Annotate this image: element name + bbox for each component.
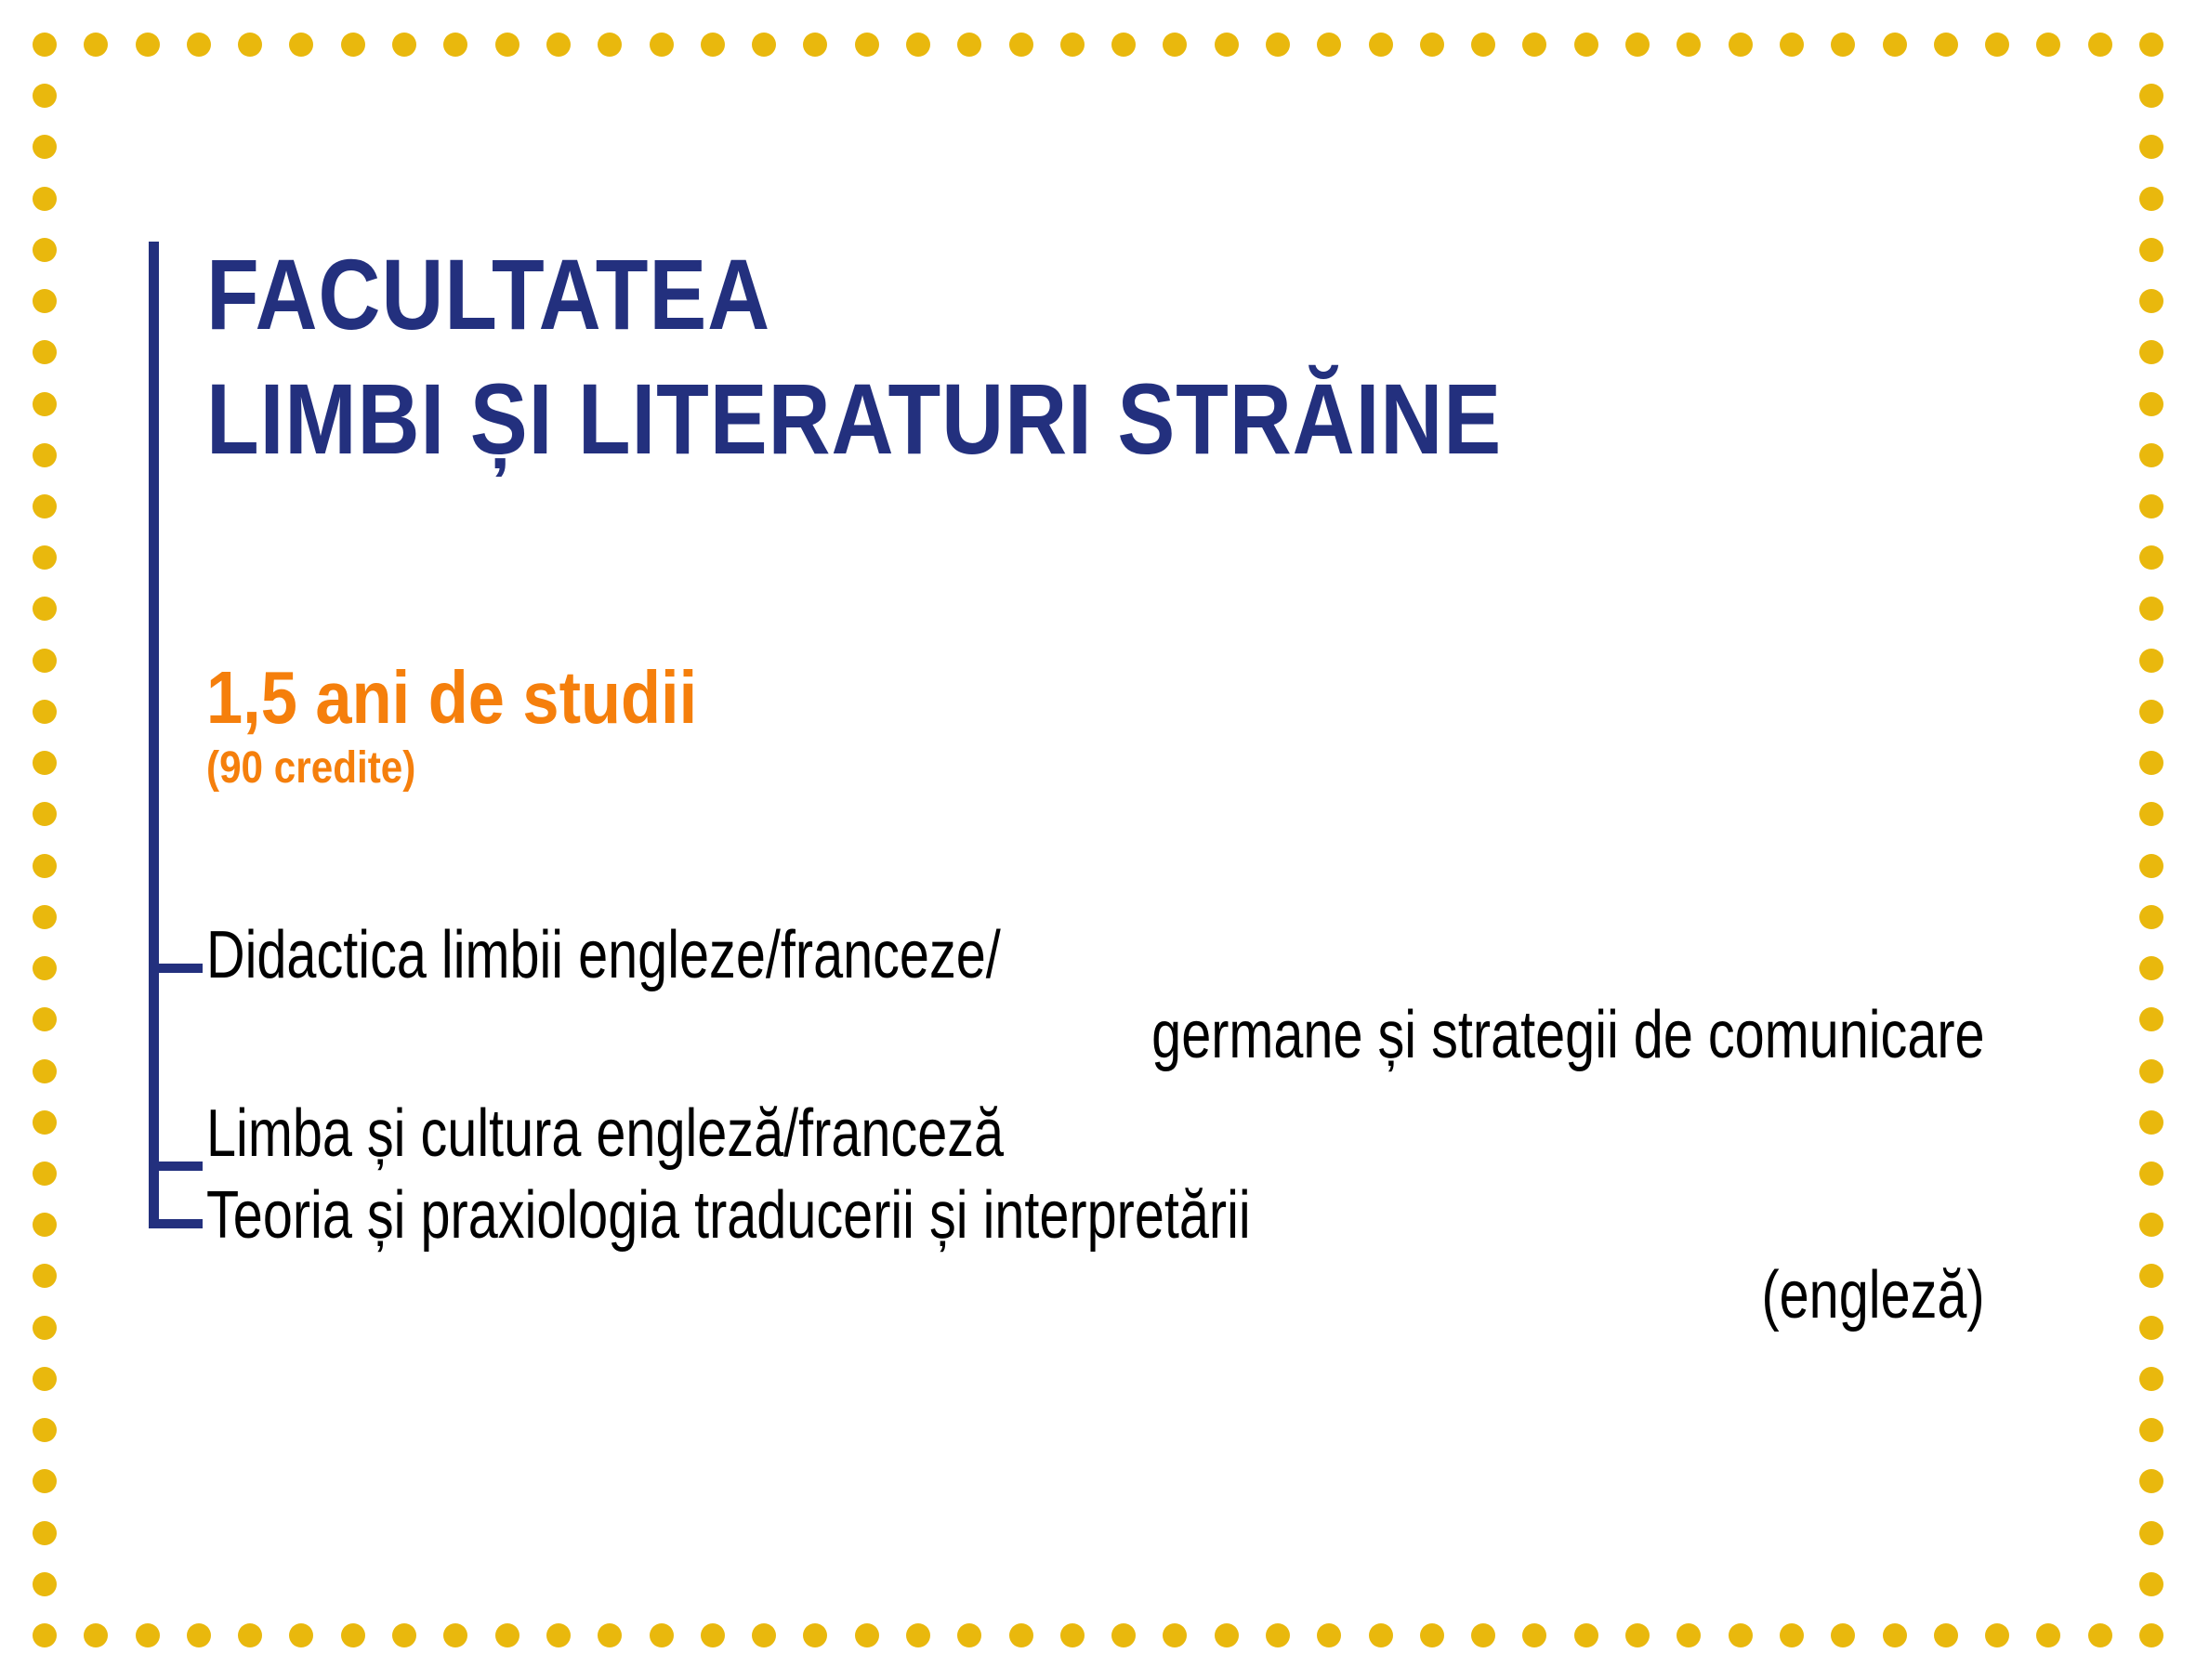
border-dot xyxy=(1780,1623,1804,1647)
faculty-label: FACULTATEA xyxy=(206,240,1805,349)
border-dot xyxy=(289,1623,313,1647)
border-dot xyxy=(957,1623,981,1647)
border-dot xyxy=(2139,1007,2163,1031)
border-dot xyxy=(803,33,827,57)
border-dot xyxy=(2139,1367,2163,1391)
border-dot xyxy=(33,905,57,929)
border-dot xyxy=(2139,289,2163,313)
border-dot xyxy=(1985,33,2009,57)
border-dot xyxy=(2139,392,2163,416)
border-dot xyxy=(2139,649,2163,673)
border-dot xyxy=(33,1264,57,1288)
border-dot xyxy=(33,956,57,980)
border-dot xyxy=(289,33,313,57)
border-dot xyxy=(33,1367,57,1391)
border-dot xyxy=(2139,956,2163,980)
border-dot xyxy=(33,1521,57,1545)
border-dot xyxy=(443,1623,467,1647)
border-dot xyxy=(2139,802,2163,826)
border-dot xyxy=(33,443,57,467)
border-dot xyxy=(33,649,57,673)
border-dot xyxy=(2139,1521,2163,1545)
border-dot xyxy=(906,1623,930,1647)
border-dot xyxy=(33,135,57,159)
border-dot xyxy=(1574,1623,1598,1647)
programs-list: Didactica limbii engleze/franceze/ germa… xyxy=(206,915,2065,1335)
border-dot xyxy=(2139,905,2163,929)
border-dot xyxy=(598,1623,622,1647)
border-dot xyxy=(341,33,365,57)
border-dot xyxy=(1420,1623,1444,1647)
program-3-line-2: (engleză) xyxy=(206,1255,2065,1335)
border-dot xyxy=(546,33,571,57)
border-dot xyxy=(1060,33,1085,57)
border-dot xyxy=(650,33,674,57)
border-dot xyxy=(2139,238,2163,262)
border-dot xyxy=(1111,33,1136,57)
border-dot xyxy=(33,1213,57,1237)
border-dot xyxy=(1831,1623,1855,1647)
border-dot xyxy=(33,392,57,416)
border-dot xyxy=(84,33,108,57)
border-dot xyxy=(33,1623,57,1647)
border-dot xyxy=(187,1623,211,1647)
study-credits: (90 credite) xyxy=(206,743,1842,794)
border-dot xyxy=(1163,33,1187,57)
border-dot xyxy=(2139,135,2163,159)
border-dot xyxy=(1625,33,1650,57)
border-dot xyxy=(136,1623,160,1647)
border-dot xyxy=(33,751,57,775)
border-dot xyxy=(546,1623,571,1647)
border-dot xyxy=(650,1623,674,1647)
border-dot xyxy=(33,340,57,364)
border-dot xyxy=(2139,1213,2163,1237)
border-dot xyxy=(33,84,57,108)
border-dot xyxy=(2139,1264,2163,1288)
tree-branch-program-3 xyxy=(149,1219,203,1228)
border-dot xyxy=(341,1623,365,1647)
border-dot xyxy=(2139,1059,2163,1083)
border-dot xyxy=(1471,1623,1495,1647)
tree-branch-program-1 xyxy=(149,964,203,973)
border-dot xyxy=(238,33,262,57)
border-dot xyxy=(1522,33,1546,57)
border-dot xyxy=(1625,1623,1650,1647)
border-dot xyxy=(855,33,879,57)
border-dot xyxy=(33,545,57,570)
border-dot xyxy=(495,33,519,57)
border-dot xyxy=(803,1623,827,1647)
border-dot xyxy=(1266,33,1290,57)
border-dot xyxy=(2139,545,2163,570)
border-dot xyxy=(1317,33,1341,57)
border-dot xyxy=(1883,1623,1907,1647)
list-item: Teoria și praxiologia traducerii și inte… xyxy=(206,1175,2065,1335)
border-dot xyxy=(2139,1469,2163,1493)
border-dot xyxy=(392,33,416,57)
border-dot xyxy=(2139,33,2163,57)
headings-block: FACULTATEA LIMBI ȘI LITERATURI STRĂINE 1… xyxy=(206,232,2065,794)
border-dot xyxy=(33,1316,57,1340)
border-dot xyxy=(2036,33,2060,57)
border-dot xyxy=(33,289,57,313)
border-dot xyxy=(1883,33,1907,57)
border-dot xyxy=(1471,33,1495,57)
border-dot xyxy=(33,1469,57,1493)
tree-branch-program-2 xyxy=(149,1162,203,1171)
border-dot xyxy=(1934,33,1958,57)
border-dot xyxy=(1420,33,1444,57)
faculty-info-card: FACULTATEA LIMBI ȘI LITERATURI STRĂINE 1… xyxy=(0,0,2196,1680)
border-dot xyxy=(136,33,160,57)
border-dot xyxy=(2036,1623,2060,1647)
program-1-line-1: Didactica limbii engleze/franceze/ xyxy=(206,918,1001,992)
border-dot xyxy=(1985,1623,2009,1647)
border-dot xyxy=(33,802,57,826)
border-dot xyxy=(1317,1623,1341,1647)
border-dot xyxy=(33,854,57,878)
border-dot xyxy=(33,597,57,621)
border-dot xyxy=(84,1623,108,1647)
border-dot xyxy=(2139,1572,2163,1596)
border-dot xyxy=(701,1623,725,1647)
border-dot xyxy=(1522,1623,1546,1647)
border-dot xyxy=(33,494,57,518)
border-dot xyxy=(2139,1110,2163,1135)
border-dot xyxy=(1266,1623,1290,1647)
border-dot xyxy=(2139,1316,2163,1340)
list-item: Didactica limbii engleze/franceze/ germa… xyxy=(206,915,2065,1075)
border-dot xyxy=(392,1623,416,1647)
faculty-name: LIMBI ȘI LITERATURI STRĂINE xyxy=(206,364,1805,474)
program-2-line-1: Limba și cultura engleză/franceză xyxy=(206,1096,1004,1171)
border-dot xyxy=(2139,700,2163,724)
border-dot xyxy=(2139,751,2163,775)
border-dot xyxy=(2139,1623,2163,1647)
border-dot xyxy=(1677,1623,1701,1647)
border-dot xyxy=(2088,33,2112,57)
border-dot xyxy=(598,33,622,57)
border-dot xyxy=(238,1623,262,1647)
program-3-line-1: Teoria și praxiologia traducerii și inte… xyxy=(206,1178,1251,1253)
border-dot xyxy=(2139,1162,2163,1186)
border-dot xyxy=(957,33,981,57)
border-dot xyxy=(906,33,930,57)
border-dot xyxy=(1934,1623,1958,1647)
border-dot xyxy=(2139,597,2163,621)
border-dot xyxy=(33,700,57,724)
border-dot xyxy=(2139,84,2163,108)
border-dot xyxy=(1574,33,1598,57)
border-dot xyxy=(33,1059,57,1083)
list-item: Limba și cultura engleză/franceză xyxy=(206,1094,2065,1174)
border-dot xyxy=(1215,1623,1239,1647)
border-dot xyxy=(187,33,211,57)
tree-spine-line xyxy=(149,242,159,1228)
border-dot xyxy=(33,1162,57,1186)
border-dot xyxy=(2139,340,2163,364)
border-dot xyxy=(33,33,57,57)
border-dot xyxy=(33,1572,57,1596)
border-dot xyxy=(2139,187,2163,211)
border-dot xyxy=(2088,1623,2112,1647)
border-dot xyxy=(1729,33,1753,57)
border-dot xyxy=(1009,1623,1033,1647)
border-dot xyxy=(2139,854,2163,878)
border-dot xyxy=(752,1623,776,1647)
border-dot xyxy=(1060,1623,1085,1647)
border-dot xyxy=(2139,443,2163,467)
border-dot xyxy=(855,1623,879,1647)
border-dot xyxy=(443,33,467,57)
border-dot xyxy=(33,187,57,211)
study-duration: 1,5 ani de studii xyxy=(206,658,1842,738)
program-1-line-2: germane și strategii de comunicare xyxy=(206,995,2065,1075)
border-dot xyxy=(1163,1623,1187,1647)
border-dot xyxy=(1111,1623,1136,1647)
border-dot xyxy=(1831,33,1855,57)
border-dot xyxy=(1369,1623,1393,1647)
border-dot xyxy=(33,1110,57,1135)
card-content: FACULTATEA LIMBI ȘI LITERATURI STRĂINE 1… xyxy=(149,232,2072,1273)
border-dot xyxy=(2139,494,2163,518)
border-dot xyxy=(701,33,725,57)
border-dot xyxy=(495,1623,519,1647)
border-dot xyxy=(1780,33,1804,57)
border-dot xyxy=(33,238,57,262)
border-dot xyxy=(1009,33,1033,57)
border-dot xyxy=(752,33,776,57)
border-dot xyxy=(1677,33,1701,57)
border-dot xyxy=(2139,1418,2163,1442)
border-dot xyxy=(1369,33,1393,57)
border-dot xyxy=(1729,1623,1753,1647)
border-dot xyxy=(33,1007,57,1031)
border-dot xyxy=(1215,33,1239,57)
border-dot xyxy=(33,1418,57,1442)
